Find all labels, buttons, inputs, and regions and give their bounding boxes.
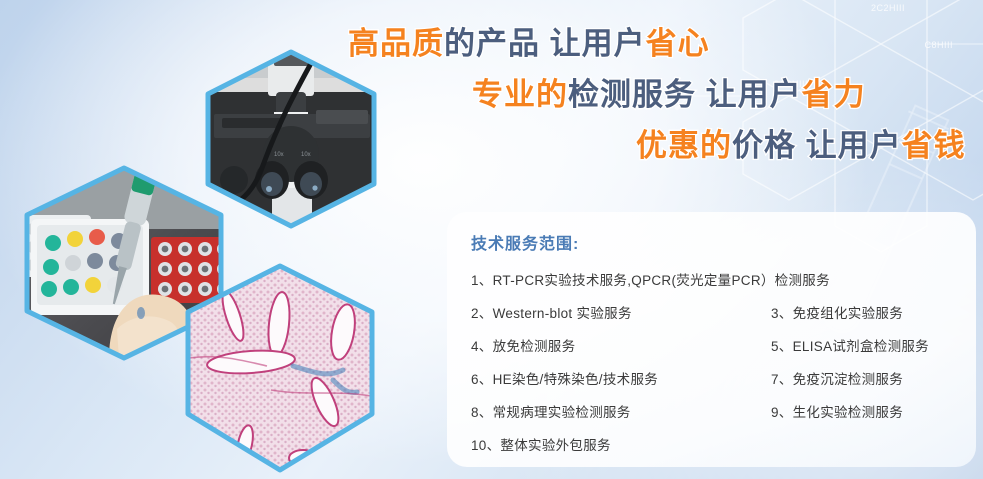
service-row: 6、HE染色/特殊染色/技术服务 7、免疫沉淀检测服务 bbox=[471, 368, 954, 388]
service-item-5: 5、ELISA试剂盒检测服务 bbox=[771, 335, 954, 355]
service-item-4: 4、放免检测服务 bbox=[471, 335, 771, 355]
service-item-10: 10、整体实验外包服务 bbox=[471, 434, 954, 454]
headline-2-highlight: 专业的 bbox=[472, 77, 568, 112]
watermark-label-1: 2C2HIII bbox=[871, 3, 905, 13]
headline-line-1: 高品质的产品 让用户省心 bbox=[300, 28, 960, 59]
service-item-6: 6、HE染色/特殊染色/技术服务 bbox=[471, 368, 771, 388]
headline-line-2: 专业的检测服务 让用户省力 bbox=[300, 79, 960, 110]
histology-slide-photo bbox=[175, 262, 385, 474]
service-item-7: 7、免疫沉淀检测服务 bbox=[771, 368, 954, 388]
service-item-9: 9、生化实验检测服务 bbox=[771, 401, 954, 421]
panel-heading: 技术服务范围: bbox=[471, 230, 954, 254]
headline-3-normal: 价格 让用户 bbox=[732, 128, 902, 163]
service-banner: 2C2HIII C8HIII 8C3HIII bbox=[0, 0, 983, 479]
service-row: 2、Western-blot 实验服务 3、免疫组化实验服务 bbox=[471, 302, 954, 322]
service-row: 1、RT-PCR实验技术服务,QPCR(荧光定量PCR）检测服务 bbox=[471, 269, 954, 289]
service-item-2: 2、Western-blot 实验服务 bbox=[471, 302, 771, 322]
headline-1-highlight2: 省心 bbox=[646, 26, 710, 61]
headline-2-normal: 检测服务 让用户 bbox=[568, 77, 802, 112]
headline-1-highlight: 高品质 bbox=[348, 26, 444, 61]
service-scope-panel: 技术服务范围: 1、RT-PCR实验技术服务,QPCR(荧光定量PCR）检测服务… bbox=[447, 212, 976, 467]
headline-2-highlight2: 省力 bbox=[802, 77, 866, 112]
service-row: 8、常规病理实验检测服务 9、生化实验检测服务 bbox=[471, 401, 954, 421]
service-item-8: 8、常规病理实验检测服务 bbox=[471, 401, 771, 421]
service-row: 10、整体实验外包服务 bbox=[471, 434, 954, 454]
headline-group: 高品质的产品 让用户省心 专业的检测服务 让用户省力 优惠的价格 让用户省钱 bbox=[300, 28, 960, 161]
service-row: 4、放免检测服务 5、ELISA试剂盒检测服务 bbox=[471, 335, 954, 355]
headline-3-highlight: 优惠的 bbox=[636, 128, 732, 163]
headline-line-3: 优惠的价格 让用户省钱 bbox=[300, 130, 960, 161]
service-item-1: 1、RT-PCR实验技术服务,QPCR(荧光定量PCR）检测服务 bbox=[471, 269, 954, 289]
service-item-3: 3、免疫组化实验服务 bbox=[771, 302, 954, 322]
headline-1-normal: 的产品 让用户 bbox=[444, 26, 646, 61]
headline-3-highlight2: 省钱 bbox=[902, 128, 966, 163]
svg-text:10x: 10x bbox=[274, 152, 284, 158]
